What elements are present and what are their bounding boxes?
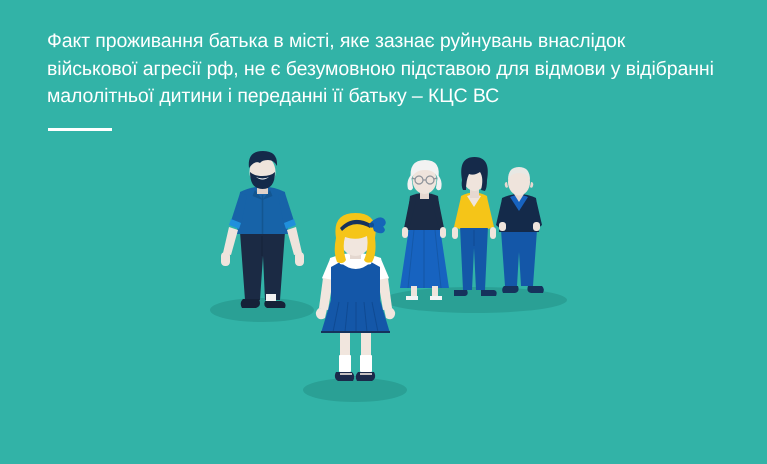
father-shadow <box>210 298 314 322</box>
grandmother-leg-left <box>411 286 417 296</box>
girl-leg-right <box>361 330 371 358</box>
grandmother-shoe-left <box>406 296 418 300</box>
grandfather-trousers <box>501 230 537 286</box>
father-forearm-left <box>223 227 238 255</box>
figure-grandfather <box>496 167 544 293</box>
poster-canvas: Факт проживання батька в місті, яке зазн… <box>0 0 767 464</box>
grandmother-hair-side-right <box>436 175 442 190</box>
grandfather-shoe-right <box>527 286 543 293</box>
girl-skirt-hem <box>321 331 390 333</box>
father-hand-left <box>221 252 230 266</box>
father-shoe-left <box>241 299 260 308</box>
mother-hand-left <box>452 227 458 239</box>
girl-sock-left <box>339 355 351 372</box>
mother-shoe-right <box>481 290 497 296</box>
grandmother-hair-side-left <box>407 175 413 190</box>
figure-girl <box>316 213 395 381</box>
figure-mother <box>452 157 497 296</box>
grandfather-ear-right <box>530 182 533 188</box>
father-forearm-right <box>287 227 302 255</box>
grandmother-leg-right <box>432 286 438 296</box>
family-illustration <box>0 0 767 464</box>
girl-hand-right <box>384 308 395 319</box>
grandmother-hand-right <box>440 227 446 238</box>
grandfather-shoe-left <box>502 286 518 293</box>
grandmother-shoe-right <box>430 296 442 300</box>
girl-leg-left <box>340 330 350 358</box>
mother-shoe-left <box>454 290 468 296</box>
mother-hand-right <box>490 227 496 239</box>
father-hand-right <box>295 252 304 266</box>
figure-father <box>221 151 304 308</box>
grandfather-ear-left <box>505 182 508 188</box>
father-shoe-right <box>264 301 285 308</box>
grandfather-hand-right <box>533 222 540 231</box>
girl-hand-left <box>316 308 327 319</box>
grandmother-hand-left <box>402 227 408 238</box>
figure-grandmother <box>400 160 449 300</box>
grandfather-hand-left <box>499 222 506 231</box>
father-sock <box>266 294 276 301</box>
girl-sock-right <box>360 355 372 372</box>
girl-shadow <box>303 378 407 402</box>
